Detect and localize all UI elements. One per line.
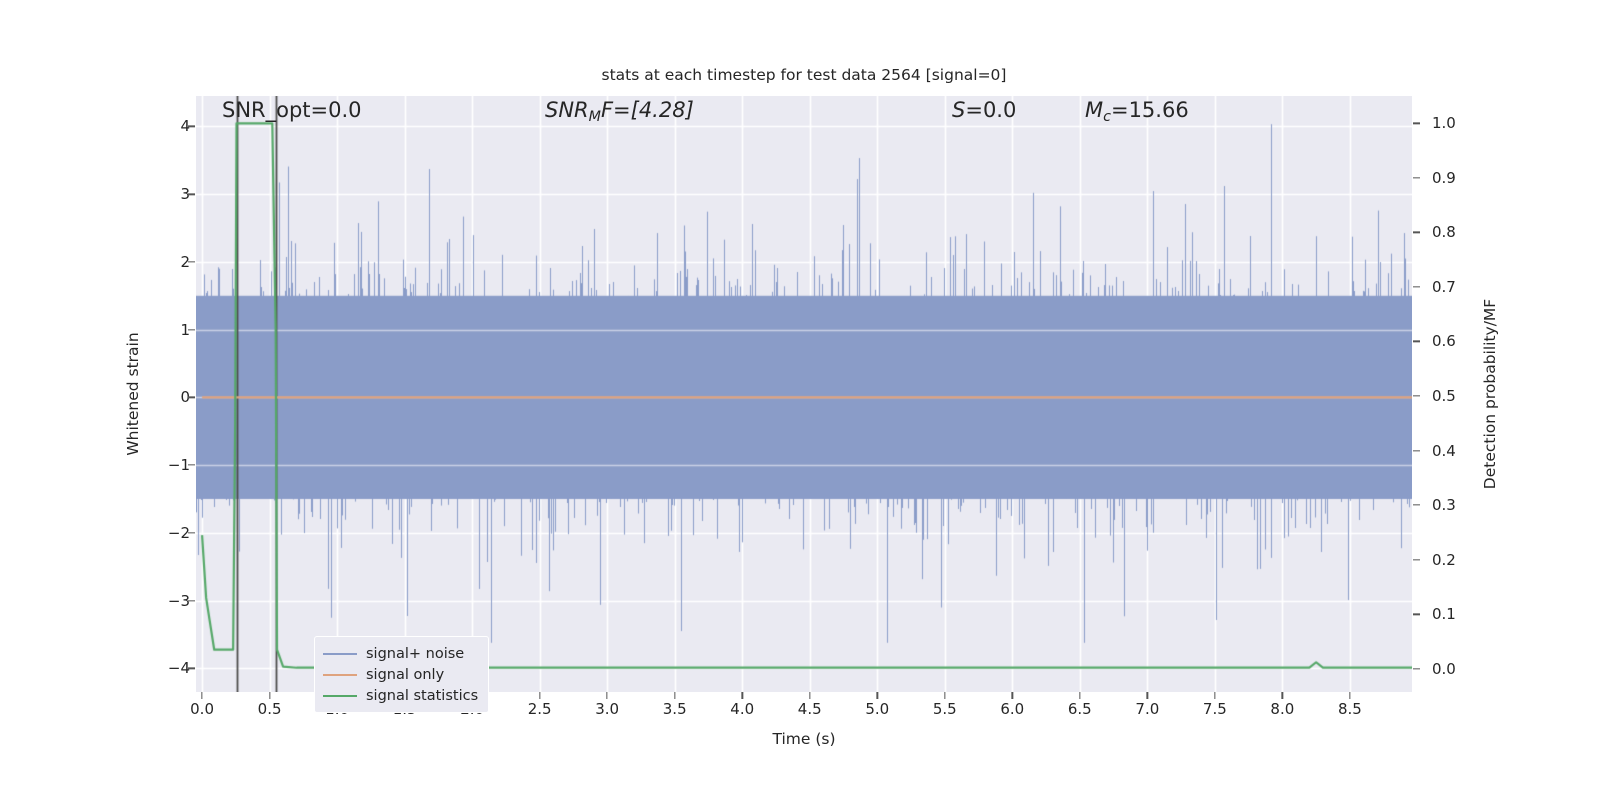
x-axis-tick-label: 7.0 <box>1135 700 1159 718</box>
y-axis-left-tick-label: −4 <box>168 659 190 677</box>
y-axis-left-tick-mark <box>188 600 195 601</box>
annotation-mc-sub: c <box>1103 109 1111 125</box>
y-axis-right-tick-label: 0.9 <box>1432 169 1456 187</box>
legend-item-label: signal statistics <box>366 688 478 704</box>
annotation-mc-base: M <box>1085 98 1103 122</box>
y-axis-right-label: Detection probability/MF <box>1481 299 1499 489</box>
plot-data-canvas <box>196 96 1412 692</box>
annotation-mc-tail: =15.66 <box>1111 98 1189 122</box>
legend-item[interactable]: signal only <box>323 664 478 685</box>
y-axis-right-tick-label: 0.6 <box>1432 332 1456 350</box>
legend-color-swatch <box>323 653 357 655</box>
x-axis-tick-label: 7.5 <box>1203 700 1227 718</box>
plot-area <box>196 96 1412 692</box>
annotation-s-tail: =0.0 <box>965 98 1016 122</box>
x-axis-tick-label: 6.0 <box>1000 700 1024 718</box>
x-axis-tick-mark <box>1214 692 1215 699</box>
annotation-s-statistic: S=0.0 <box>952 100 1016 121</box>
y-axis-right-tick-label: 0.1 <box>1432 605 1456 623</box>
legend-color-swatch <box>323 695 357 697</box>
y-axis-left-tick-mark <box>188 329 195 330</box>
x-axis-tick-label: 6.5 <box>1068 700 1092 718</box>
page-title: stats at each timestep for test data 256… <box>196 66 1412 84</box>
x-axis-tick-label: 0.0 <box>190 700 214 718</box>
y-axis-left-tick-mark <box>188 397 195 398</box>
x-axis-tick-mark <box>1079 692 1080 699</box>
x-axis-tick-label: 5.0 <box>865 700 889 718</box>
y-axis-right-tick-label: 0.2 <box>1432 551 1456 569</box>
y-axis-right-tick-label: 0.3 <box>1432 496 1456 514</box>
y-axis-right-tick-mark <box>1413 395 1420 396</box>
y-axis-right-tick-label: 0.0 <box>1432 660 1456 678</box>
annotation-snr-mf-sub: M <box>589 109 601 125</box>
legend-item-label: signal+ noise <box>366 646 464 662</box>
x-axis-tick-mark <box>674 692 675 699</box>
y-axis-right-tick-label: 0.7 <box>1432 278 1456 296</box>
x-axis-tick-label: 5.5 <box>933 700 957 718</box>
y-axis-right-tick-mark <box>1413 450 1420 451</box>
x-axis-tick-label: 8.5 <box>1338 700 1362 718</box>
x-axis-tick-label: 0.5 <box>258 700 282 718</box>
y-axis-left-tick-label: −1 <box>168 456 190 474</box>
y-axis-right-tick-mark <box>1413 668 1420 669</box>
x-axis-tick-mark <box>1349 692 1350 699</box>
y-axis-left-tick-mark <box>188 126 195 127</box>
legend-color-swatch <box>323 674 357 676</box>
y-axis-right-tick-label: 1.0 <box>1432 114 1456 132</box>
y-axis-left-tick-mark <box>188 194 195 195</box>
x-axis-tick-mark <box>877 692 878 699</box>
x-axis-tick-mark <box>607 692 608 699</box>
annotation-chirp-mass: Mc=15.66 <box>1085 100 1189 121</box>
x-axis-tick-mark <box>944 692 945 699</box>
legend: signal+ noisesignal onlysignal statistic… <box>314 636 489 713</box>
legend-item[interactable]: signal statistics <box>323 685 478 706</box>
y-axis-left-tick-mark <box>188 668 195 669</box>
y-axis-right-tick-mark <box>1413 232 1420 233</box>
y-axis-right-tick-mark <box>1413 286 1420 287</box>
annotation-s-base: S <box>952 98 965 122</box>
x-axis-tick-mark <box>1282 692 1283 699</box>
y-axis-left-tick-mark <box>188 261 195 262</box>
x-axis-tick-mark <box>269 692 270 699</box>
y-axis-left-label: Whitened strain <box>124 332 142 455</box>
y-axis-right-tick-mark <box>1413 341 1420 342</box>
y-axis-right-tick-label: 0.4 <box>1432 442 1456 460</box>
y-axis-right-tick-label: 0.8 <box>1432 223 1456 241</box>
y-axis-left-tick-mark <box>188 532 195 533</box>
x-axis-tick-mark <box>539 692 540 699</box>
annotation-snr-mf-base: SNR <box>545 98 589 122</box>
legend-item-label: signal only <box>366 667 444 683</box>
x-axis-tick-mark <box>201 692 202 699</box>
annotation-snr-opt: SNR_opt=0.0 <box>222 100 362 121</box>
y-axis-right-tick-label: 0.5 <box>1432 387 1456 405</box>
x-axis-tick-label: 4.5 <box>798 700 822 718</box>
x-axis-tick-label: 3.0 <box>595 700 619 718</box>
x-axis-tick-label: 4.0 <box>730 700 754 718</box>
figure-canvas: stats at each timestep for test data 256… <box>0 0 1600 800</box>
x-axis-tick-mark <box>1012 692 1013 699</box>
annotation-snr-mf: SNRMF=[4.28] <box>545 100 694 121</box>
x-axis-tick-mark <box>809 692 810 699</box>
x-axis-label: Time (s) <box>772 730 835 748</box>
annotation-snr-mf-tail: F=[4.28] <box>601 98 694 122</box>
y-axis-right-tick-mark <box>1413 559 1420 560</box>
x-axis-tick-label: 3.5 <box>663 700 687 718</box>
x-axis-tick-mark <box>742 692 743 699</box>
y-axis-left-tick-label: −2 <box>168 524 190 542</box>
y-axis-right-tick-mark <box>1413 123 1420 124</box>
x-axis-tick-mark <box>1147 692 1148 699</box>
y-axis-right-tick-mark <box>1413 177 1420 178</box>
y-axis-left-tick-label: −3 <box>168 592 190 610</box>
y-axis-left-tick-mark <box>188 464 195 465</box>
x-axis-tick-label: 8.0 <box>1270 700 1294 718</box>
legend-item[interactable]: signal+ noise <box>323 643 478 664</box>
y-axis-right-tick-mark <box>1413 504 1420 505</box>
x-axis-tick-label: 2.5 <box>528 700 552 718</box>
y-axis-right-tick-mark <box>1413 614 1420 615</box>
